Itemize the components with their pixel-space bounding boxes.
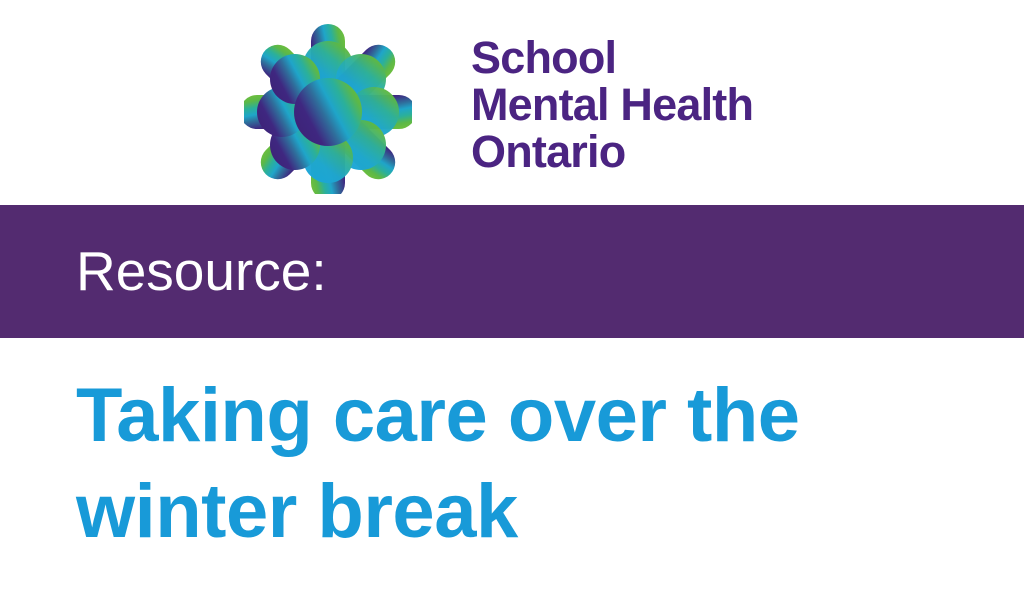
brand-wordmark-line-1: School [471,34,801,81]
brand-wordmark: School Mental Health Ontario [471,34,801,175]
brand-wordmark-line-3: Ontario [471,128,801,175]
brand-wordmark-line-2: Mental Health [471,81,801,128]
resource-card: School Mental Health Ontario Resource: T… [0,0,1024,602]
eyebrow-band: Resource: [0,205,1024,338]
title-area: Taking care over the winter break [0,338,1024,602]
smho-asterisk-logo [244,22,412,194]
brand-header: School Mental Health Ontario [0,0,1024,205]
eyebrow-label: Resource: [76,241,327,301]
page-title: Taking care over the winter break [76,368,916,560]
